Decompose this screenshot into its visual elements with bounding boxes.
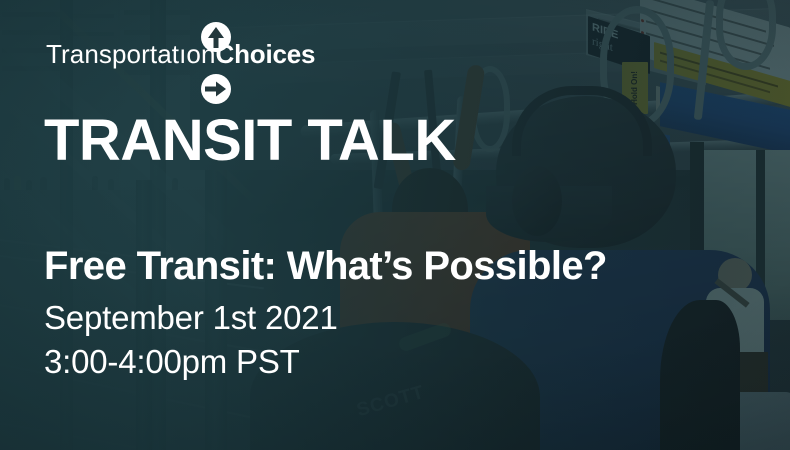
transportation-choices-logo[interactable]: TransportatıonChoices	[46, 30, 315, 78]
series-title: TRANSIT TALK	[44, 112, 456, 170]
transit-talk-event-poster: RIDE right Hold On! SC	[0, 0, 790, 450]
poster-content: TransportatıonChoices TRANSIT TALK Free …	[0, 0, 790, 450]
event-time: 3:00-4:00pm PST	[44, 340, 338, 384]
event-headline: Free Transit: What’s Possible?	[44, 245, 607, 287]
event-datetime: September 1st 2021 3:00-4:00pm PST	[44, 296, 338, 384]
event-date: September 1st 2021	[44, 296, 338, 340]
logo-wordmark: TransportatıonChoices	[46, 39, 315, 70]
logo-word-light: Transportatıon	[46, 39, 216, 69]
circular-arrows-logo-mark	[198, 21, 234, 105]
